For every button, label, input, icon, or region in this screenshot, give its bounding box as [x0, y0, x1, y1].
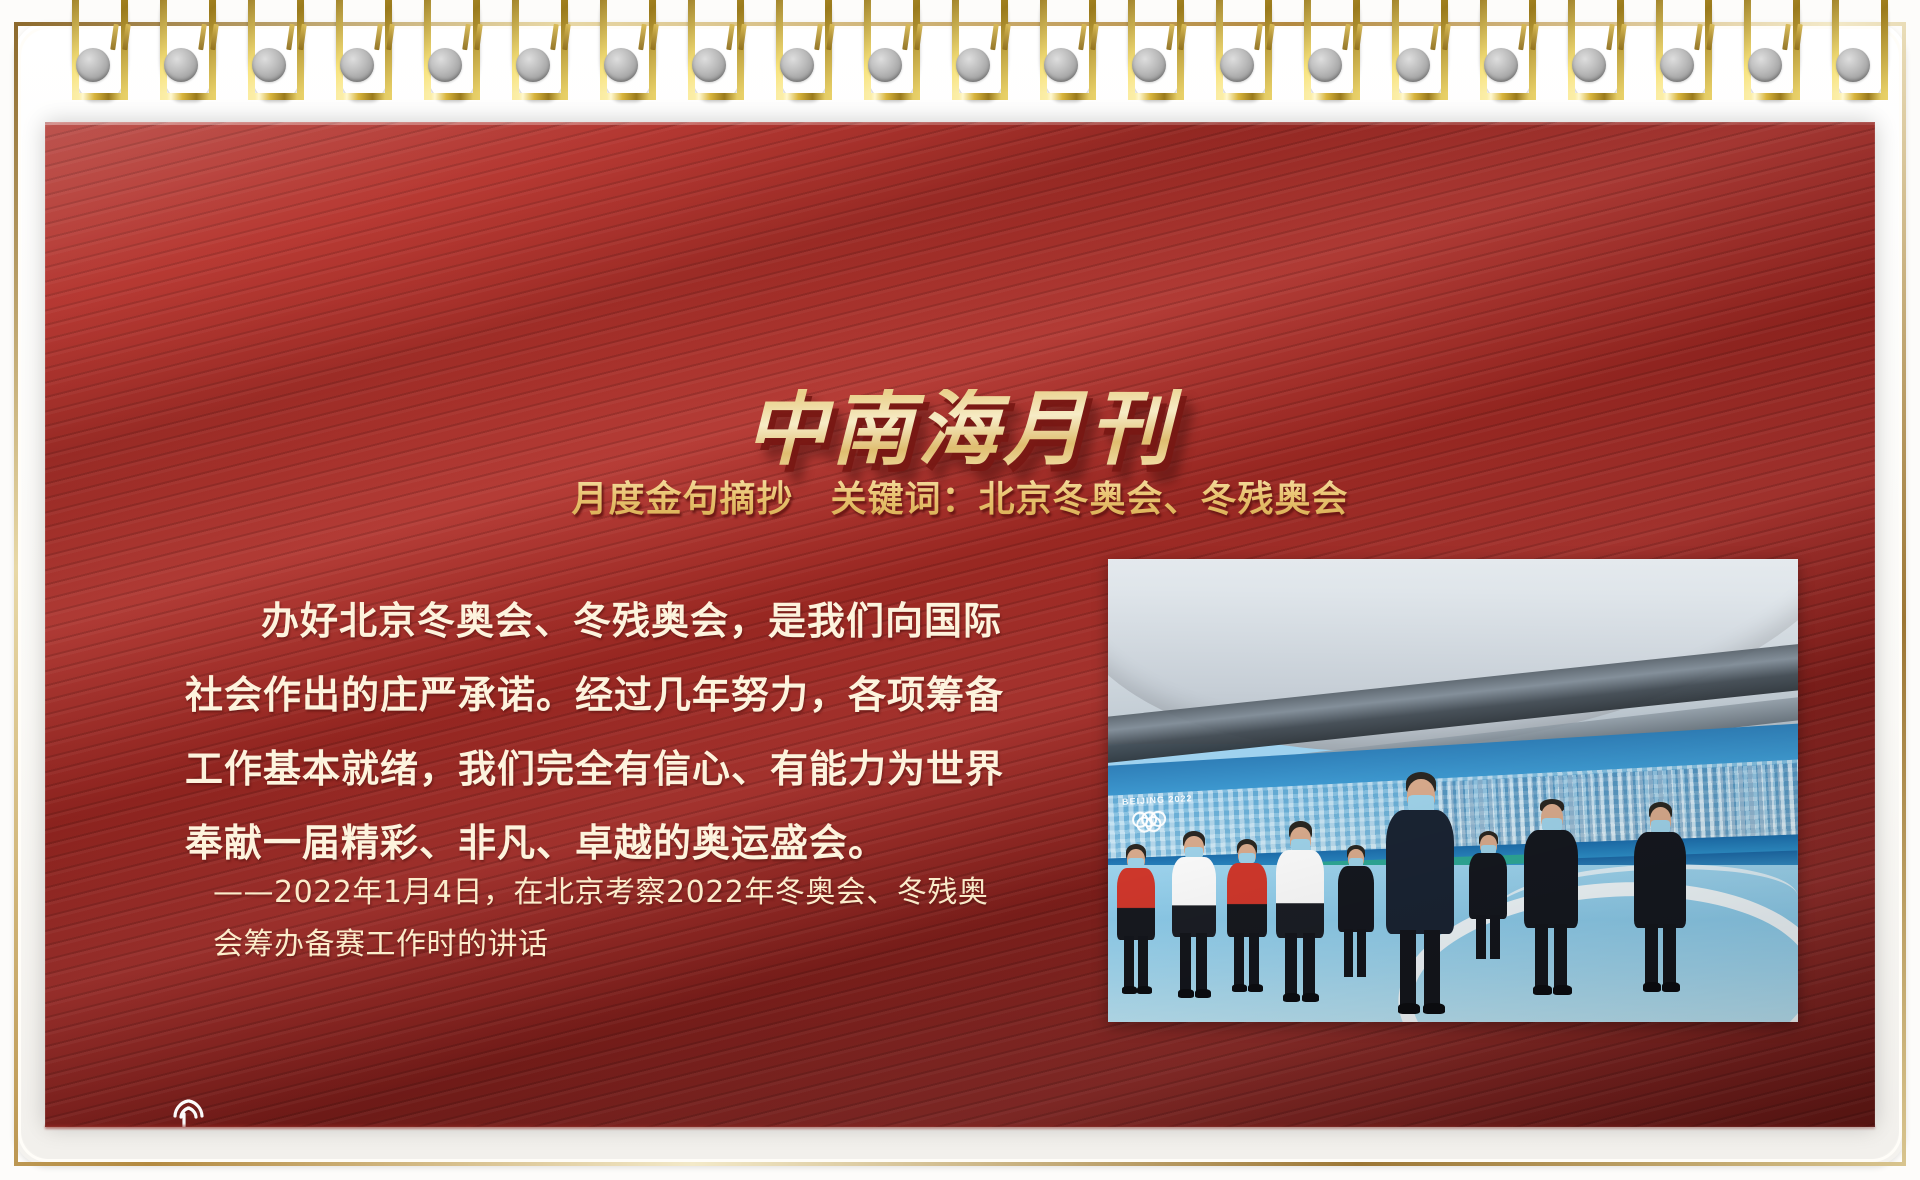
- page-title: 中南海月刊: [45, 389, 1875, 471]
- photo-person: [1225, 839, 1269, 994]
- card-top-highlight: [45, 122, 1875, 125]
- notebook-page-container: 中南海月刊 月度金句摘抄 关键词：北京冬奥会、冬残奥会 办好北京冬奥会、冬残奥会…: [0, 0, 1920, 1180]
- page-subtitle: 月度金句摘抄 关键词：北京冬奥会、冬残奥会: [45, 470, 1875, 522]
- card-bottom-edge: [45, 1125, 1875, 1129]
- photo-person: [1274, 821, 1326, 1003]
- photo-person: [1336, 845, 1376, 985]
- feature-photo: BEIJING 2022: [1108, 559, 1798, 1022]
- tap-hand-icon[interactable]: [157, 1090, 233, 1127]
- content-card: 中南海月刊 月度金句摘抄 关键词：北京冬奥会、冬残奥会 办好北京冬奥会、冬残奥会…: [45, 122, 1875, 1127]
- photo-person: [1632, 802, 1688, 994]
- photo-person: [1115, 844, 1157, 994]
- photo-person-lead: [1384, 772, 1456, 1017]
- photo-person: [1170, 831, 1218, 999]
- quote-text: 办好北京冬奥会、冬残奥会，是我们向国际社会作出的庄严承诺。经过几年努力，各项筹备…: [185, 584, 1040, 880]
- photo-person: [1522, 799, 1580, 999]
- quote-attribution: ——2022年1月4日，在北京考察2022年冬奥会、冬残奥会筹办备赛工作时的讲话: [213, 867, 1013, 971]
- photo-person: [1467, 831, 1509, 966]
